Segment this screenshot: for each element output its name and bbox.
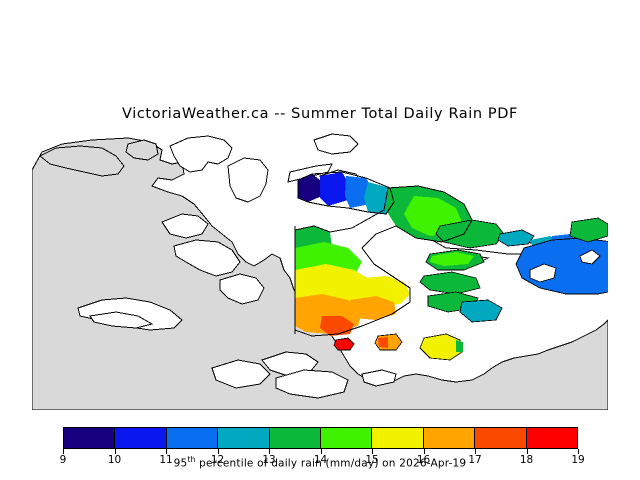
patch-orangered-small — [378, 337, 388, 348]
colorbar[interactable] — [63, 427, 578, 449]
rain-contour-map — [32, 130, 608, 410]
caption-rest: percentile of daily rain (mm/day) on 202… — [196, 458, 467, 470]
colorbar-swatch-15-16[interactable] — [371, 428, 422, 448]
colorbar-swatch-13-14[interactable] — [269, 428, 320, 448]
colorbar-swatch-16-17[interactable] — [423, 428, 474, 448]
colorbar-swatch-18-19[interactable] — [526, 428, 577, 448]
caption-superscript: th — [187, 455, 195, 464]
colorbar-swatch-10-11[interactable] — [114, 428, 165, 448]
page-title: VictoriaWeather.ca -- Summer Total Daily… — [0, 106, 640, 122]
colorbar-swatch-11-12[interactable] — [166, 428, 217, 448]
colorbar-swatch-17-18[interactable] — [474, 428, 525, 448]
colorbar-swatch-9-10[interactable] — [64, 428, 114, 448]
weather-map-page: VictoriaWeather.ca -- Summer Total Daily… — [0, 0, 640, 480]
patch-green-island-edge — [456, 340, 463, 352]
band-blue-north — [320, 172, 348, 206]
colorbar-caption: 95th percentile of daily rain (mm/day) o… — [0, 455, 640, 470]
map-canvas — [32, 130, 608, 410]
colorbar-swatch-12-13[interactable] — [217, 428, 268, 448]
colorbar-swatch-14-15[interactable] — [320, 428, 371, 448]
caption-prefix: 95 — [174, 458, 188, 470]
